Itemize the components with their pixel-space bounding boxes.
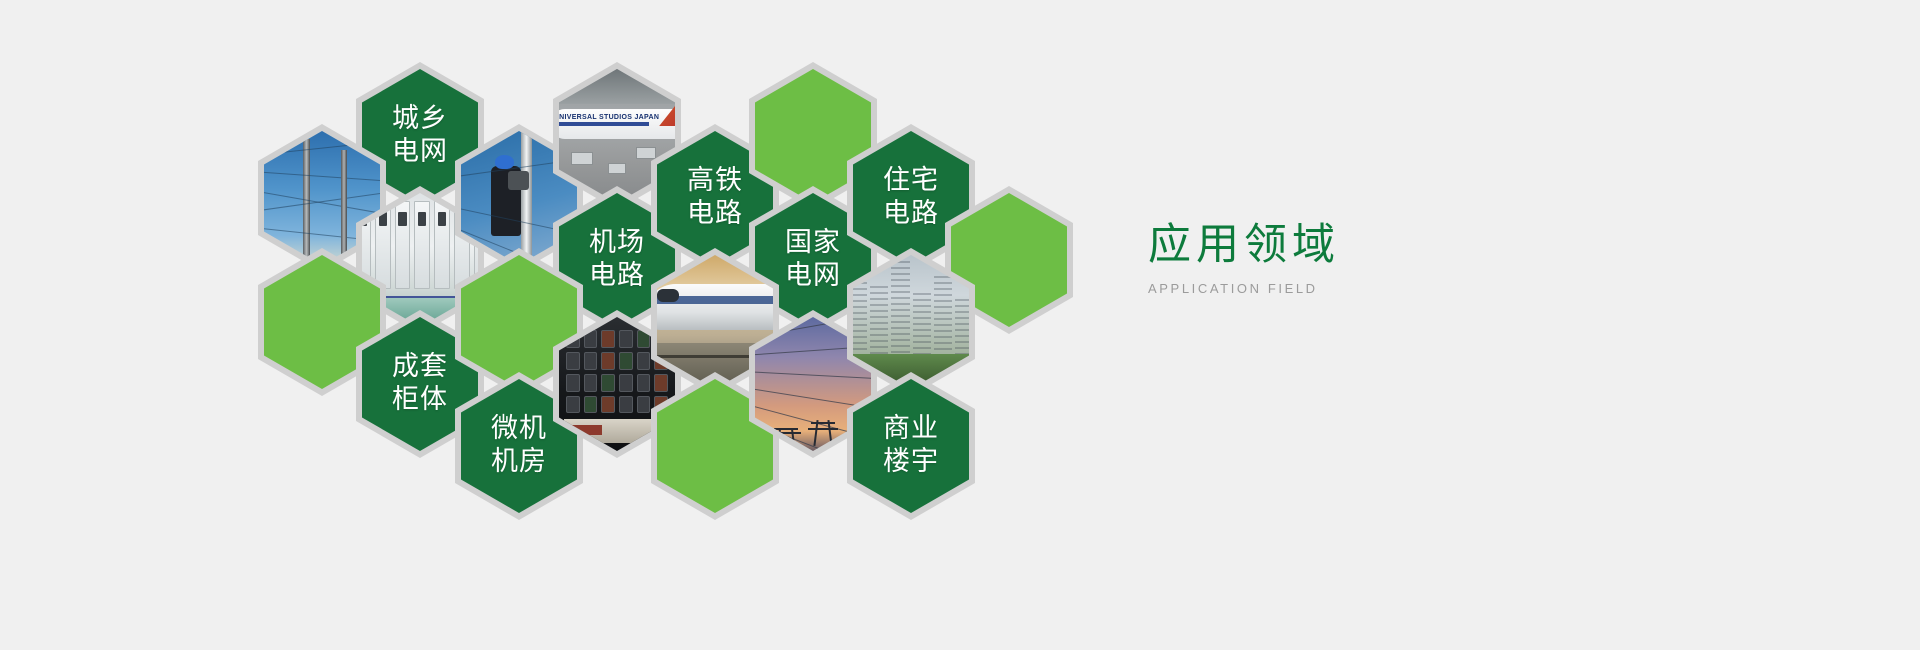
hex-label-computer-room: 微机 机房 bbox=[491, 413, 547, 479]
page-subtitle: APPLICATION FIELD bbox=[1148, 281, 1568, 296]
hex-label-commercial-building: 商业 楼宇 bbox=[883, 413, 939, 479]
title-block: 应用领域 APPLICATION FIELD bbox=[1148, 222, 1568, 296]
hex-label-state-grid: 国家 电网 bbox=[785, 227, 841, 293]
page-title: 应用领域 bbox=[1148, 222, 1568, 269]
hex-label-high-speed-rail: 高铁 电路 bbox=[687, 165, 743, 231]
hex-inner-city-towers-photo bbox=[853, 255, 969, 389]
hex-label-airport-circuit: 机场 电路 bbox=[589, 227, 645, 293]
hex-label-urban-rural-grid: 城乡 电网 bbox=[392, 103, 448, 169]
airplane-livery-text: UNIVERSAL STUDIOS JAPAN bbox=[559, 114, 659, 121]
application-field-banner: 城乡 电网UNIVERSAL STUDIOS JAPAN机场 电路高铁 电路国家… bbox=[0, 0, 1920, 650]
photo-residential-high-rise bbox=[853, 255, 969, 389]
hex-label-complete-cabinet: 成套 柜体 bbox=[392, 351, 448, 417]
hex-label-residential-circuit: 住宅 电路 bbox=[883, 165, 939, 231]
hex-inner-commercial-building: 商业 楼宇 bbox=[853, 379, 969, 513]
